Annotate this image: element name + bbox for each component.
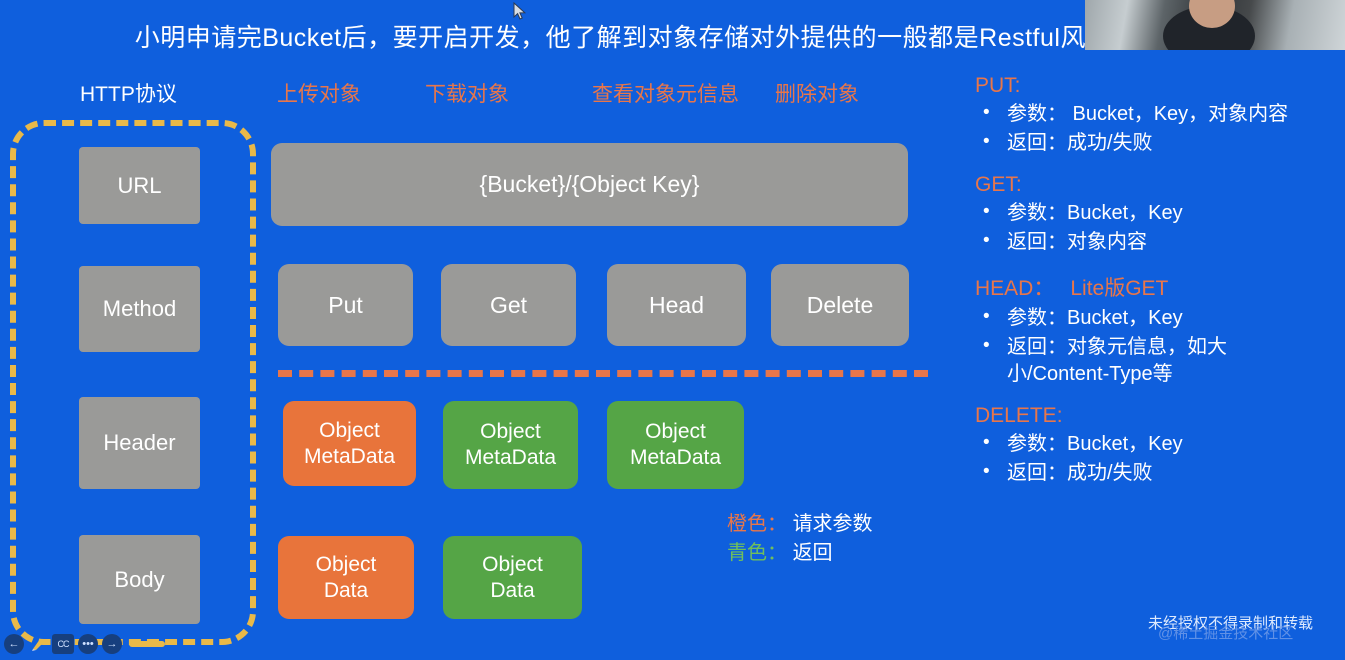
method-box-head: Head xyxy=(607,264,746,346)
data-box-line2: Data xyxy=(490,578,534,604)
list-item: 返回：成功/失败 xyxy=(975,460,1325,487)
column-header-upload: 上传对象 xyxy=(277,78,361,108)
http-part-header: Header xyxy=(79,397,200,489)
data-box-line2: Data xyxy=(324,578,368,604)
api-section-put: PUT: 参数： Bucket，Key，对象内容 返回：成功/失败 xyxy=(975,74,1325,157)
api-section-list: 参数： Bucket，Key，对象内容 返回：成功/失败 xyxy=(975,101,1325,157)
metadata-box-line1: Object xyxy=(319,418,380,444)
api-section-list: 参数：Bucket，Key 返回：成功/失败 xyxy=(975,431,1325,487)
list-item: 参数： Bucket，Key，对象内容 xyxy=(975,101,1325,128)
list-item: 返回：对象元信息，如大小/Content-Type等 xyxy=(975,334,1325,388)
legend-row-green: 青色： 返回 xyxy=(727,539,873,568)
metadata-box-line1: Object xyxy=(645,419,706,445)
list-item: 返回：成功/失败 xyxy=(975,130,1325,157)
brand-watermark: @稀土掘金技术社区 xyxy=(1158,622,1293,643)
slide-canvas: 小明申请完Bucket后，要开启开发，他了解到对象存储对外提供的一般都是Rest… xyxy=(0,0,1345,660)
api-section-heading: HEAD：Lite版GET xyxy=(975,272,1325,302)
forward-icon[interactable]: → xyxy=(102,634,122,654)
http-part-body: Body xyxy=(79,535,200,624)
method-box-put: Put xyxy=(278,264,413,346)
mouse-cursor xyxy=(513,2,527,27)
back-icon[interactable]: ← xyxy=(4,634,24,654)
list-item: 参数：Bucket，Key xyxy=(975,200,1325,227)
api-section-heading-sub: Lite版GET xyxy=(1070,277,1168,300)
url-pattern-bar: {Bucket}/{Object Key} xyxy=(271,143,908,226)
data-box-upload: Object Data xyxy=(278,536,414,619)
metadata-box-line2: MetaData xyxy=(465,445,556,471)
api-section-heading-text: DELETE: xyxy=(975,404,1063,427)
http-part-url: URL xyxy=(79,147,200,224)
legend-key-orange: 橙色： xyxy=(727,513,787,535)
metadata-box-line2: MetaData xyxy=(630,445,721,471)
legend-row-orange: 橙色： 请求参数 xyxy=(727,510,873,539)
method-box-get: Get xyxy=(441,264,576,346)
pen-icon[interactable] xyxy=(28,634,48,654)
api-section-list: 参数：Bucket，Key 返回：对象内容 xyxy=(975,200,1325,256)
metadata-box-line1: Object xyxy=(480,419,541,445)
data-box-download: Object Data xyxy=(443,536,582,619)
http-part-method: Method xyxy=(79,266,200,352)
legend-value-green: 返回 xyxy=(793,542,833,564)
cc-icon[interactable]: CC xyxy=(52,634,74,654)
metadata-box-line2: MetaData xyxy=(304,444,395,470)
metadata-box-upload: Object MetaData xyxy=(283,401,416,486)
api-section-heading: GET: xyxy=(975,173,1325,197)
list-item: 参数：Bucket，Key xyxy=(975,431,1325,458)
legend-key-green: 青色： xyxy=(727,542,787,564)
data-box-line1: Object xyxy=(482,552,543,578)
column-header-download: 下载对象 xyxy=(425,78,509,108)
metadata-box-download: Object MetaData xyxy=(443,401,578,489)
column-header-delete: 删除对象 xyxy=(775,78,859,108)
api-section-head: HEAD：Lite版GET 参数：Bucket，Key 返回：对象元信息，如大小… xyxy=(975,272,1325,388)
progress-bar[interactable] xyxy=(129,641,165,647)
api-section-get: GET: 参数：Bucket，Key 返回：对象内容 xyxy=(975,173,1325,256)
api-reference-panel: PUT: 参数： Bucket，Key，对象内容 返回：成功/失败 GET: 参… xyxy=(975,74,1325,503)
more-icon[interactable]: ••• xyxy=(78,634,98,654)
api-section-heading-text: HEAD： xyxy=(975,277,1054,300)
color-legend: 橙色： 请求参数 青色： 返回 xyxy=(727,510,873,568)
api-section-heading-text: GET: xyxy=(975,173,1022,196)
api-section-delete: DELETE: 参数：Bucket，Key 返回：成功/失败 xyxy=(975,404,1325,487)
column-header-http: HTTP协议 xyxy=(80,78,177,108)
player-controls: ← CC ••• → xyxy=(4,634,165,654)
metadata-box-head: Object MetaData xyxy=(607,401,744,489)
column-header-metadata: 查看对象元信息 xyxy=(592,78,739,108)
api-section-list: 参数：Bucket，Key 返回：对象元信息，如大小/Content-Type等 xyxy=(975,305,1325,388)
method-box-delete: Delete xyxy=(771,264,909,346)
legend-value-orange: 请求参数 xyxy=(793,513,873,535)
header-body-divider xyxy=(278,370,928,377)
list-item: 返回：对象内容 xyxy=(975,229,1325,256)
api-section-heading: DELETE: xyxy=(975,404,1325,428)
data-box-line1: Object xyxy=(316,552,377,578)
api-section-heading-text: PUT: xyxy=(975,74,1021,97)
list-item: 参数：Bucket，Key xyxy=(975,305,1325,332)
api-section-heading: PUT: xyxy=(975,74,1325,98)
presenter-webcam-overlay xyxy=(1085,0,1345,50)
